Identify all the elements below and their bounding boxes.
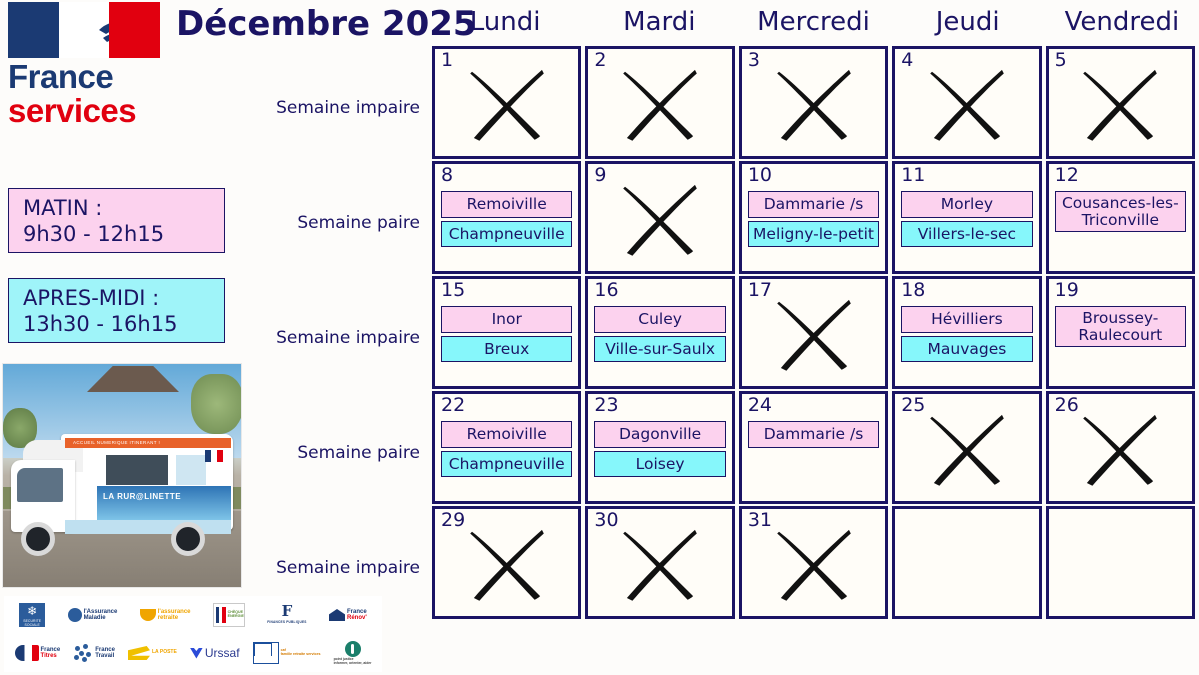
morning-location-tag[interactable]: Remoiville: [441, 421, 572, 448]
morning-location-tag[interactable]: Culey: [594, 306, 725, 333]
morning-location-tag[interactable]: Dagonville: [594, 421, 725, 448]
afternoon-location-tag[interactable]: Loisey: [594, 451, 725, 478]
partner-logo-cheque-energie: CHÈQUEÉNERGIE: [213, 600, 245, 630]
day-locations: RemoivilleChampneuville: [441, 191, 572, 250]
calendar-grid: 123458RemoivilleChampneuville910Dammarie…: [430, 46, 1197, 621]
calendar-cell-day-8[interactable]: 8RemoivilleChampneuville: [432, 161, 581, 274]
calendar-cell-day-22[interactable]: 22RemoivilleChampneuville: [432, 391, 581, 504]
week-label-4: Semaine paire: [240, 443, 420, 463]
morning-location-tag[interactable]: Remoiville: [441, 191, 572, 218]
calendar-header: Lundi Mardi Mercredi Jeudi Vendredi: [428, 0, 1199, 45]
calendar-cell-day-19[interactable]: 19Broussey-Raulecourt: [1046, 276, 1195, 389]
partner-logo-securite-sociale: ❄SECURITE SOCIALE: [19, 600, 45, 630]
day-of-week-jeudi: Jeudi: [891, 0, 1045, 45]
morning-location-tag[interactable]: Dammarie /s: [748, 191, 879, 218]
morning-location-tag[interactable]: Inor: [441, 306, 572, 333]
day-number: 8: [439, 166, 574, 186]
day-number: 25: [899, 396, 1034, 416]
partner-logos: ❄SECURITE SOCIALE l'AssuranceMaladie l'a…: [4, 596, 382, 672]
partner-logo-la-poste: LA POSTE: [128, 638, 177, 668]
partner-logo-finances-publiques: F FINANCES PUBLIQUES: [267, 600, 306, 630]
partner-logo-caf: caffamille retraite services: [253, 638, 321, 668]
van-banner-text: ACCUEIL NUMERIQUE ITINERANT !: [65, 438, 231, 445]
partner-logo-assurance-maladie: l'AssuranceMaladie: [68, 600, 118, 630]
day-number: 16: [592, 281, 727, 301]
calendar-cell-day-9[interactable]: 9: [585, 161, 734, 274]
morning-location-tag[interactable]: Dammarie /s: [748, 421, 879, 448]
day-locations: HévilliersMauvages: [901, 306, 1032, 365]
partner-logo-urssaf: Urssaf: [190, 638, 240, 668]
calendar-week-row: 12345: [430, 46, 1197, 161]
morning-label: MATIN :: [23, 195, 214, 221]
calendar-week-row: 15InorBreux16CuleyVille-sur-Saulx1718Hév…: [430, 276, 1197, 391]
calendar-cell-day-11[interactable]: 11MorleyVillers-le-sec: [892, 161, 1041, 274]
afternoon-hours: 13h30 - 16h15: [23, 311, 214, 337]
calendar-week-row: 8RemoivilleChampneuville910Dammarie /sMe…: [430, 161, 1197, 276]
partner-logo-point-justice: point justiceinformer, orienter, aider: [334, 638, 372, 668]
calendar-cell-day-26[interactable]: 26: [1046, 391, 1195, 504]
calendar-cell-day-24[interactable]: 24Dammarie /s: [739, 391, 888, 504]
calendar-cell-day-30[interactable]: 30: [585, 506, 734, 619]
day-number: 26: [1053, 396, 1188, 416]
marianne-profile-icon: [97, 8, 110, 52]
day-locations: DagonvilleLoisey: [594, 421, 725, 480]
day-number: 31: [746, 511, 881, 531]
day-of-week-lundi: Lundi: [428, 0, 582, 45]
day-number: 12: [1053, 166, 1188, 186]
partner-logo-france-travail: FranceTravail: [73, 638, 115, 668]
day-number: 3: [746, 51, 881, 71]
calendar-cell-day-10[interactable]: 10Dammarie /sMeligny-le-petit: [739, 161, 888, 274]
calendar-cell-day-3[interactable]: 3: [739, 46, 888, 159]
day-number: 17: [746, 281, 881, 301]
week-label-1: Semaine impaire: [240, 98, 420, 118]
van-illustration: ACCUEIL NUMERIQUE ITINERANT ! LA RUR@LIN…: [9, 424, 237, 554]
day-number: 9: [592, 166, 727, 186]
day-of-week-mardi: Mardi: [582, 0, 736, 45]
calendar-page: France services MATIN : 9h30 - 12h15 APR…: [0, 0, 1199, 675]
afternoon-location-tag[interactable]: Champneuville: [441, 451, 572, 478]
france-services-logo: France services: [8, 2, 168, 127]
day-locations: MorleyVillers-le-sec: [901, 191, 1032, 250]
morning-location-tag[interactable]: Morley: [901, 191, 1032, 218]
calendar-cell-day-23[interactable]: 23DagonvilleLoisey: [585, 391, 734, 504]
calendar-cell-day-18[interactable]: 18HévilliersMauvages: [892, 276, 1041, 389]
partner-logo-france-titres: FranceTitres: [15, 638, 61, 668]
morning-hours: 9h30 - 12h15: [23, 221, 214, 247]
partner-logo-assurance-retraite: l'assuranceretraite: [140, 600, 191, 630]
day-number: 18: [899, 281, 1034, 301]
calendar-week-row: 22RemoivilleChampneuville23DagonvilleLoi…: [430, 391, 1197, 506]
day-locations: Dammarie /sMeligny-le-petit: [748, 191, 879, 250]
week-label-5: Semaine impaire: [240, 558, 420, 578]
partner-logo-france-renov: FranceRénov': [329, 600, 367, 630]
day-number: 29: [439, 511, 574, 531]
morning-location-tag[interactable]: Cousances-les-Triconville: [1055, 191, 1186, 232]
calendar-week-row: 293031: [430, 506, 1197, 621]
week-label-3: Semaine impaire: [240, 328, 420, 348]
day-locations: RemoivilleChampneuville: [441, 421, 572, 480]
morning-location-tag[interactable]: Broussey-Raulecourt: [1055, 306, 1186, 347]
calendar-cell-day-31[interactable]: 31: [739, 506, 888, 619]
calendar-cell-day-2[interactable]: 2: [585, 46, 734, 159]
day-number: 19: [1053, 281, 1188, 301]
calendar: Lundi Mardi Mercredi Jeudi Vendredi 1234…: [428, 0, 1199, 675]
morning-hours-box: MATIN : 9h30 - 12h15: [8, 188, 225, 253]
partner-logos-row-1: ❄SECURITE SOCIALE l'AssuranceMaladie l'a…: [4, 596, 382, 634]
calendar-cell-day-17[interactable]: 17: [739, 276, 888, 389]
calendar-cell-day-4[interactable]: 4: [892, 46, 1041, 159]
calendar-cell-day-5[interactable]: 5: [1046, 46, 1195, 159]
day-number: 15: [439, 281, 574, 301]
day-number: 23: [592, 396, 727, 416]
day-locations: InorBreux: [441, 306, 572, 365]
afternoon-location-tag[interactable]: Mauvages: [901, 336, 1032, 363]
morning-location-tag[interactable]: Hévilliers: [901, 306, 1032, 333]
day-locations: CuleyVille-sur-Saulx: [594, 306, 725, 365]
day-locations: Broussey-Raulecourt: [1055, 306, 1186, 350]
marianne-flag-icon: [8, 2, 160, 58]
calendar-cell-day-16[interactable]: 16CuleyVille-sur-Saulx: [585, 276, 734, 389]
calendar-cell-day-12[interactable]: 12Cousances-les-Triconville: [1046, 161, 1195, 274]
afternoon-hours-box: APRES-MIDI : 13h30 - 16h15: [8, 278, 225, 343]
afternoon-location-tag[interactable]: Meligny-le-petit: [748, 221, 879, 248]
calendar-cell-empty[interactable]: [1046, 506, 1195, 619]
day-number: 30: [592, 511, 727, 531]
mobile-van-photo: ACCUEIL NUMERIQUE ITINERANT ! LA RUR@LIN…: [2, 363, 242, 588]
logo-text-services: services: [8, 94, 168, 128]
afternoon-label: APRES-MIDI :: [23, 285, 214, 311]
day-number: 4: [899, 51, 1034, 71]
day-number: 2: [592, 51, 727, 71]
calendar-cell-day-15[interactable]: 15InorBreux: [432, 276, 581, 389]
day-number: 10: [746, 166, 881, 186]
calendar-cell-day-1[interactable]: 1: [432, 46, 581, 159]
day-number: 22: [439, 396, 574, 416]
logo-text-france: France: [8, 60, 168, 94]
calendar-cell-empty[interactable]: [892, 506, 1041, 619]
afternoon-location-tag[interactable]: Champneuville: [441, 221, 572, 248]
day-of-week-vendredi: Vendredi: [1045, 0, 1199, 45]
afternoon-location-tag[interactable]: Villers-le-sec: [901, 221, 1032, 248]
calendar-cell-day-25[interactable]: 25: [892, 391, 1041, 504]
van-name-text: LA RUR@LINETTE: [97, 486, 231, 501]
day-locations: Cousances-les-Triconville: [1055, 191, 1186, 235]
afternoon-location-tag[interactable]: Breux: [441, 336, 572, 363]
day-of-week-mercredi: Mercredi: [736, 0, 890, 45]
calendar-cell-day-29[interactable]: 29: [432, 506, 581, 619]
day-number: 5: [1053, 51, 1188, 71]
afternoon-location-tag[interactable]: Ville-sur-Saulx: [594, 336, 725, 363]
day-locations: Dammarie /s: [748, 421, 879, 451]
day-number: 1: [439, 51, 574, 71]
day-number: 24: [746, 396, 881, 416]
week-label-2: Semaine paire: [240, 213, 420, 233]
partner-logos-row-2: FranceTitres FranceTravail LA POSTE Urss…: [4, 634, 382, 672]
day-number: 11: [899, 166, 1034, 186]
